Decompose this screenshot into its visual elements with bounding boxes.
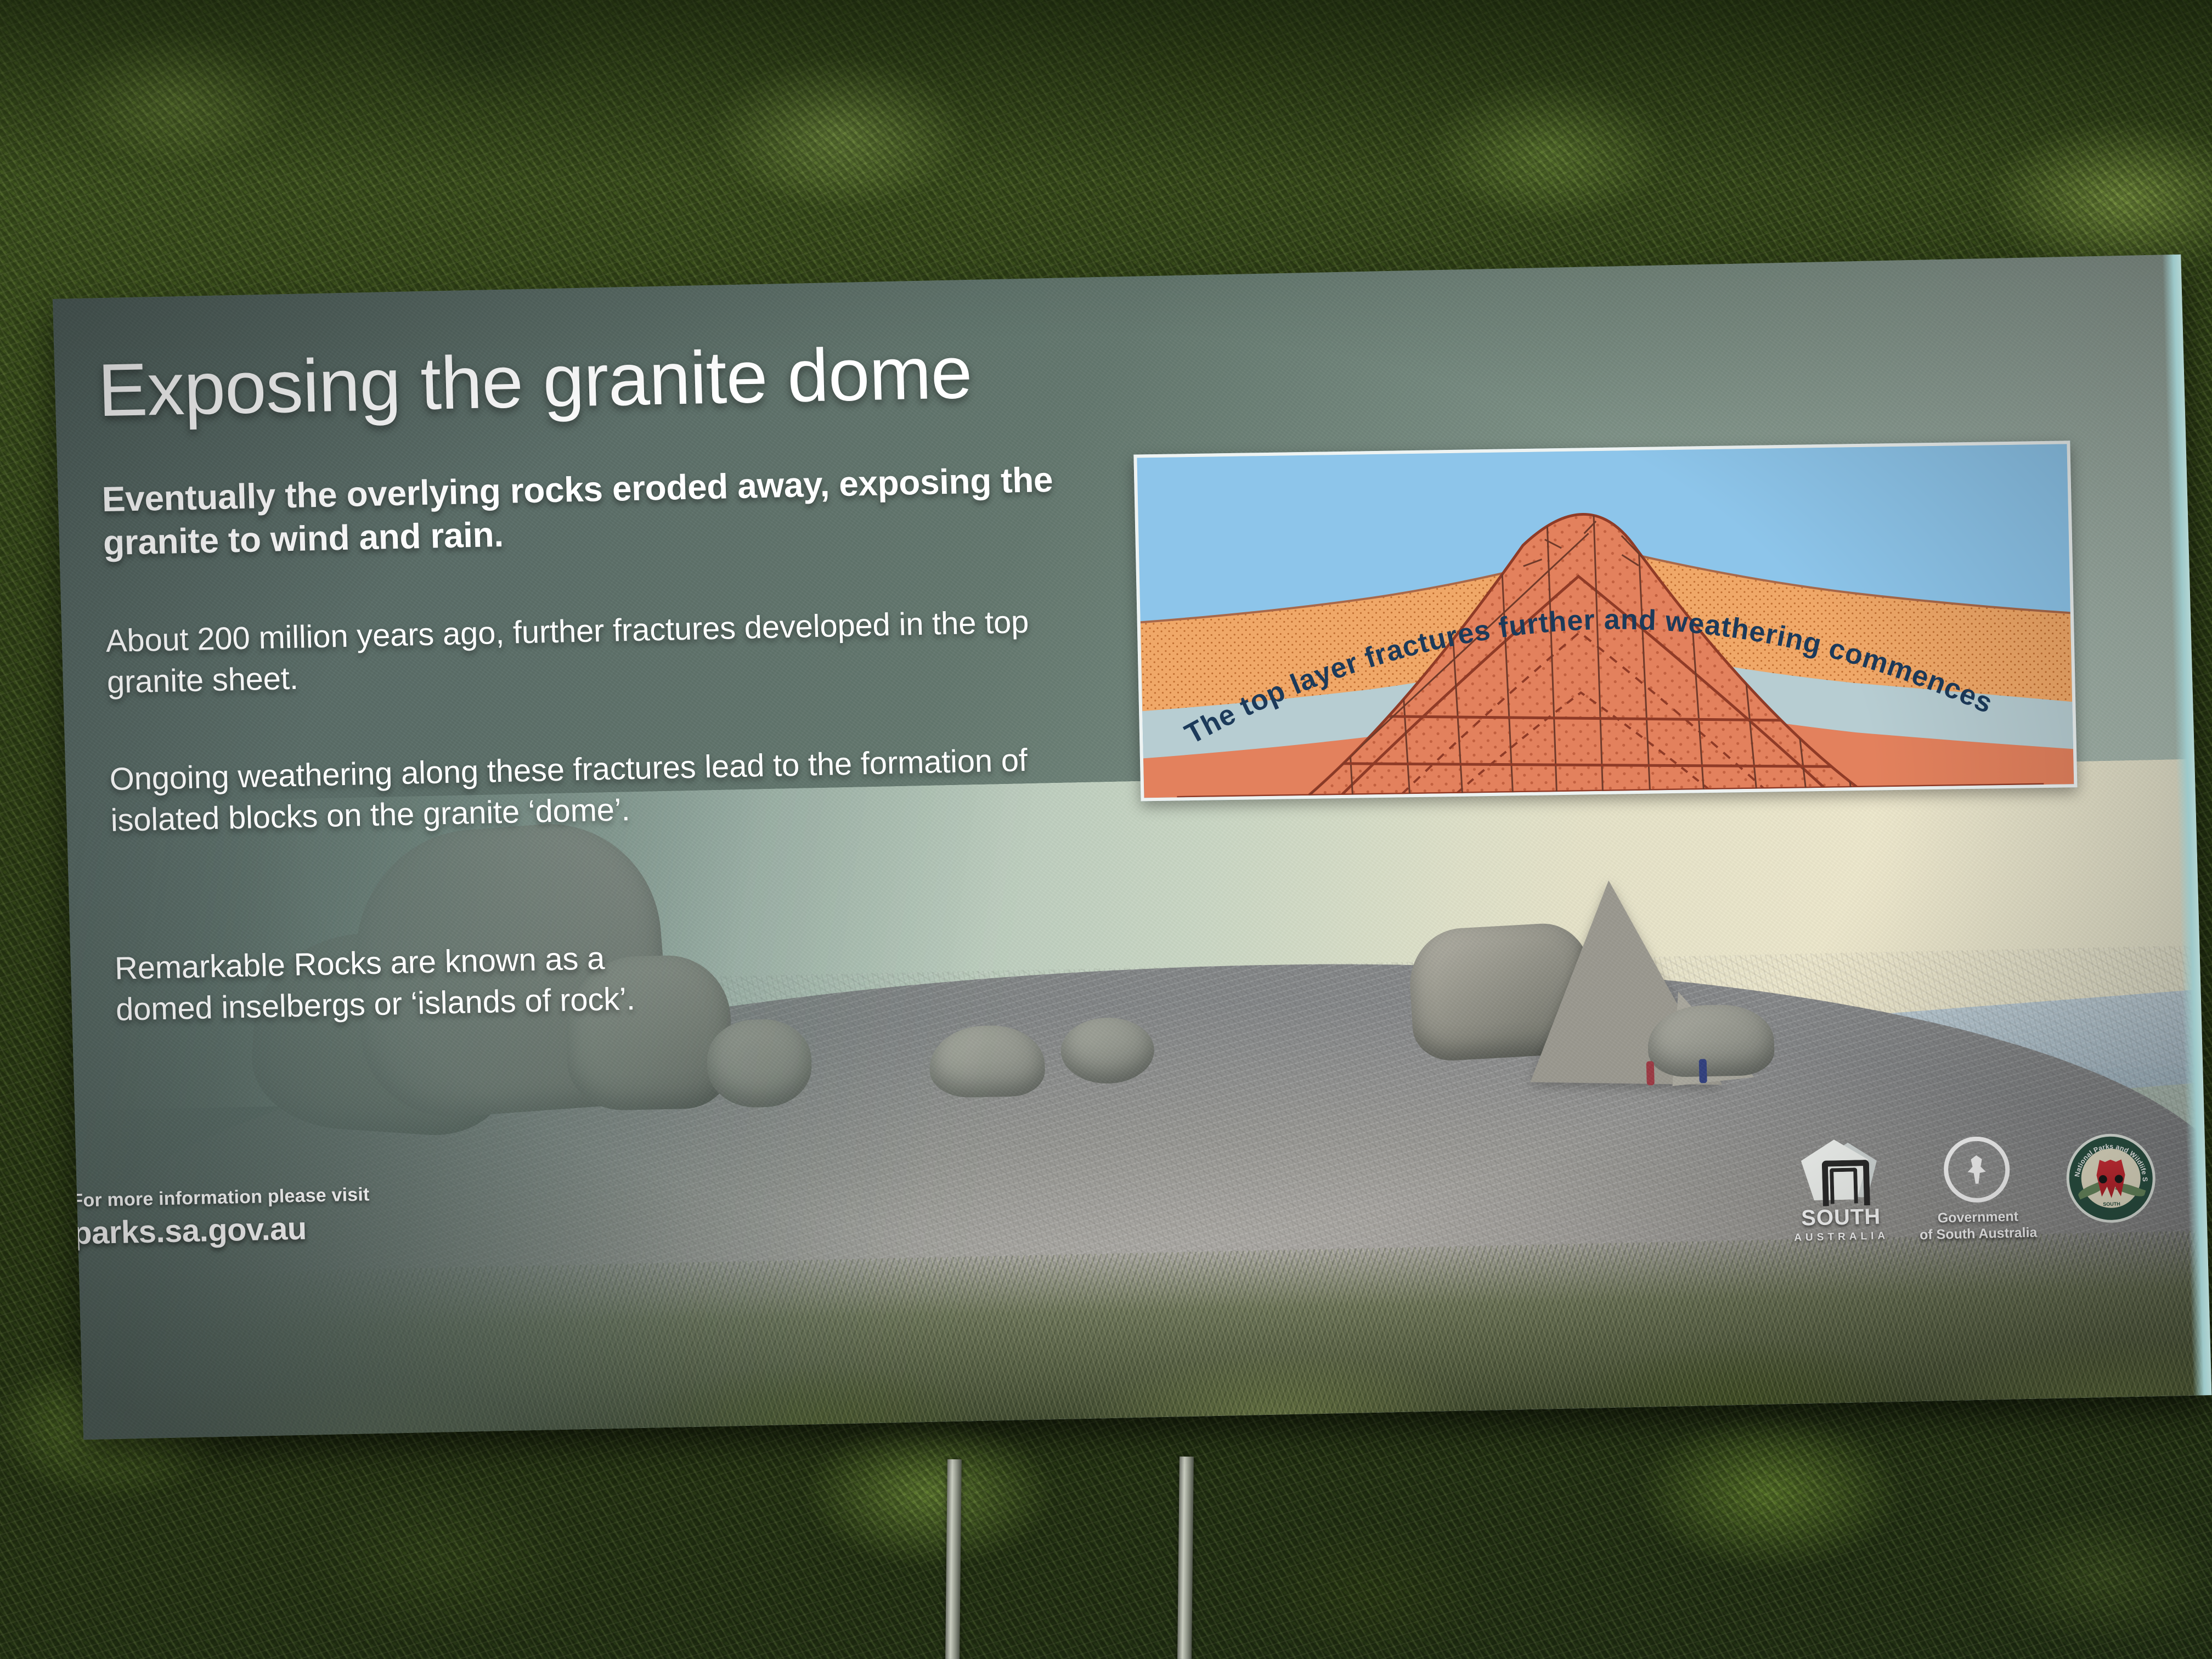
government-crest-icon [1943, 1136, 2010, 1203]
sign-post-left [945, 1459, 962, 1659]
interpretive-sign-panel: Exposing the granite dome Eventually the… [53, 255, 2211, 1440]
diagram-svg: The top layer fractures further and weat… [1137, 444, 2074, 798]
government-logo-line-1: Government [1919, 1208, 2037, 1227]
logo-government-of-south-australia: Government of South Australia [1917, 1136, 2038, 1243]
footer: For more information please visit parks.… [71, 1184, 371, 1251]
svg-text:National Parks and Wildlife Se: National Parks and Wildlife Service [2068, 1136, 2149, 1183]
vegetation-shadow-top [0, 0, 2212, 181]
npws-ring-text: National Parks and Wildlife Service [2068, 1136, 2149, 1183]
government-logo-line-2: of South Australia [1920, 1224, 2038, 1243]
npws-bottom-text-2: AUSTRALIA [2097, 1207, 2126, 1213]
logo-national-parks-wildlife-service: National Parks and Wildlife Service SOUT… [2066, 1133, 2157, 1223]
body-paragraph-3: Remarkable Rocks are known as a domed in… [114, 936, 665, 1031]
logo-row: SOUTH AUSTRALIA Government of South Aust… [1792, 1133, 2157, 1246]
npws-badge-icon: National Parks and Wildlife Service SOUT… [2066, 1133, 2157, 1223]
south-australia-wordmark: SOUTH [1793, 1205, 1889, 1229]
sign-post-right [1177, 1457, 1194, 1659]
sign-surface-texture [53, 255, 2211, 1440]
logo-south-australia: SOUTH AUSTRALIA [1792, 1138, 1889, 1244]
screenshot-canvas: Exposing the granite dome Eventually the… [0, 0, 2212, 1659]
npws-bottom-text-1: SOUTH [2103, 1201, 2120, 1207]
page-title: Exposing the granite dome [97, 335, 973, 427]
npws-ring-svg: National Parks and Wildlife Service SOUT… [2068, 1136, 2154, 1221]
south-australia-subtitle: AUSTRALIA [1794, 1230, 1889, 1244]
geology-cross-section-diagram: The top layer fractures further and weat… [1133, 441, 2077, 801]
footer-url[interactable]: parks.sa.gov.au [72, 1209, 371, 1251]
south-australia-house-icon [1801, 1139, 1879, 1205]
